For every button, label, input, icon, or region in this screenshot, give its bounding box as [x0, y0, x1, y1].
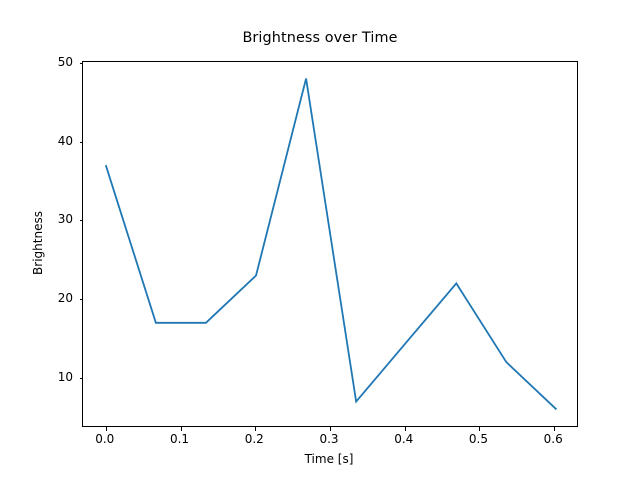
line-series-canvas [83, 62, 577, 426]
x-tick-mark [181, 427, 182, 431]
y-tick-label: 50 [0, 55, 73, 69]
x-tick-mark [106, 427, 107, 431]
y-tick-mark [80, 378, 84, 379]
x-tick-label: 0.1 [170, 432, 189, 446]
y-tick-label: 30 [0, 212, 73, 226]
x-tick-mark [405, 427, 406, 431]
y-tick-label: 10 [0, 370, 73, 384]
y-tick-mark [80, 299, 84, 300]
plot-axes [82, 61, 578, 427]
x-tick-label: 0.6 [544, 432, 563, 446]
chart-title: Brightness over Time [0, 30, 640, 46]
y-tick-mark [80, 142, 84, 143]
x-axis-label: Time [s] [82, 452, 576, 466]
x-tick-mark [554, 427, 555, 431]
x-tick-label: 0.2 [245, 432, 264, 446]
y-tick-label: 40 [0, 134, 73, 148]
x-tick-mark [330, 427, 331, 431]
x-tick-label: 0.5 [469, 432, 488, 446]
y-tick-label: 20 [0, 291, 73, 305]
x-tick-label: 0.3 [319, 432, 338, 446]
x-tick-label: 0.0 [95, 432, 114, 446]
x-tick-label: 0.4 [394, 432, 413, 446]
matplotlib-figure: Brightness over Time Brightness 10203040… [0, 0, 640, 480]
y-tick-mark [80, 63, 84, 64]
x-tick-mark [479, 427, 480, 431]
x-tick-mark [255, 427, 256, 431]
brightness-line-series [106, 79, 557, 410]
y-tick-mark [80, 220, 84, 221]
